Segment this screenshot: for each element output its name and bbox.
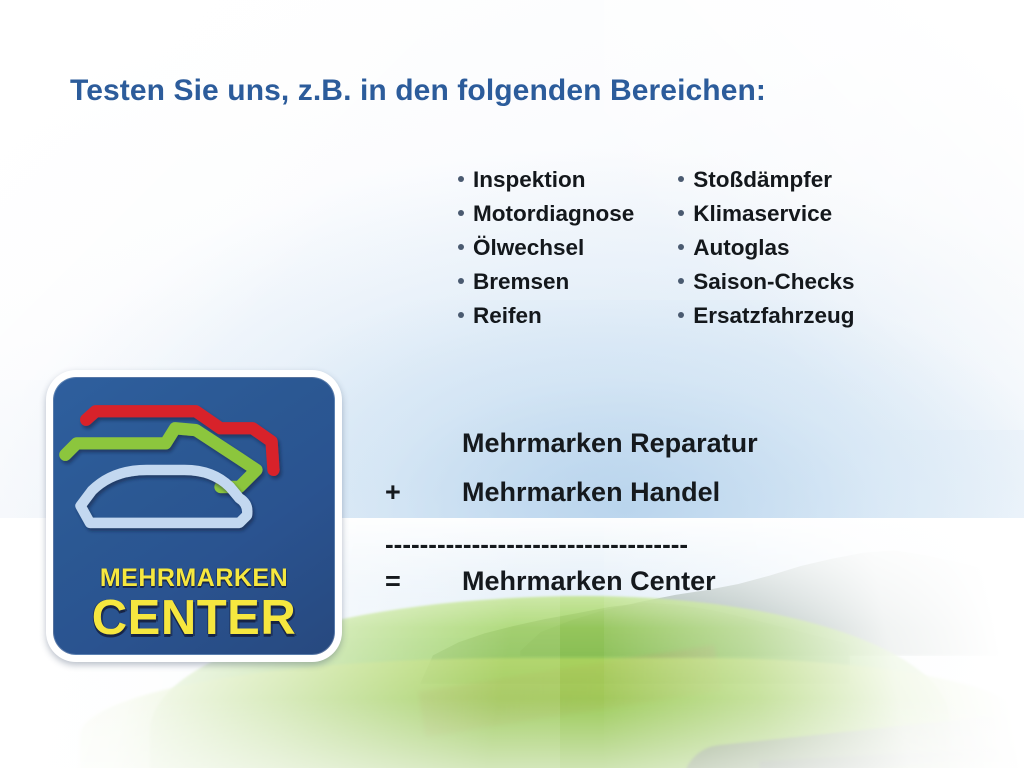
equation-row-result: = Mehrmarken Center	[385, 566, 905, 615]
equation-operator-equals: =	[385, 566, 462, 597]
equation-row-reparatur: Mehrmarken Reparatur	[385, 428, 905, 477]
list-item: Ölwechsel	[458, 231, 634, 265]
services-column-left: Inspektion Motordiagnose Ölwechsel Brems…	[458, 163, 634, 333]
landscape-haze-bottom	[0, 698, 1024, 768]
mehrmarken-center-logo: MEHRMARKEN CENTER	[46, 370, 342, 662]
landscape-meadow	[80, 658, 1024, 768]
three-cars-icon	[54, 384, 334, 552]
bullet-dot-icon	[458, 210, 464, 216]
list-item: Klimaservice	[678, 197, 854, 231]
list-item-label: Ersatzfahrzeug	[693, 299, 854, 333]
list-item: Autoglas	[678, 231, 854, 265]
list-item: Inspektion	[458, 163, 634, 197]
slide-canvas: Testen Sie uns, z.B. in den folgenden Be…	[0, 0, 1024, 768]
equation-term-label: Mehrmarken Reparatur	[462, 428, 758, 459]
list-item-label: Saison-Checks	[693, 265, 854, 299]
bullet-dot-icon	[678, 210, 684, 216]
logo-wordmark-top: MEHRMARKEN	[54, 564, 334, 593]
list-item-label: Reifen	[473, 299, 542, 333]
landscape-road	[679, 715, 1011, 768]
list-item: Stoßdämpfer	[678, 163, 854, 197]
logo-panel: MEHRMARKEN CENTER	[53, 377, 335, 655]
bullet-dot-icon	[458, 278, 464, 284]
list-item: Ersatzfahrzeug	[678, 299, 854, 333]
list-item-label: Motordiagnose	[473, 197, 634, 231]
logo-wordmark-bottom: CENTER	[54, 590, 334, 646]
bullet-dot-icon	[678, 312, 684, 318]
services-column-right: Stoßdämpfer Klimaservice Autoglas Saison…	[678, 163, 854, 333]
list-item: Reifen	[458, 299, 634, 333]
page-title: Testen Sie uns, z.B. in den folgenden Be…	[70, 74, 766, 108]
list-item-label: Ölwechsel	[473, 231, 584, 265]
equation-result-label: Mehrmarken Center	[462, 566, 716, 597]
equation-row-handel: + Mehrmarken Handel	[385, 477, 905, 526]
bullet-dot-icon	[678, 244, 684, 250]
equation-divider-line: -----------------------------------	[385, 530, 905, 556]
equation-term-label: Mehrmarken Handel	[462, 477, 720, 508]
landscape-road-shoulder	[760, 747, 1024, 768]
list-item-label: Bremsen	[473, 265, 569, 299]
list-item: Motordiagnose	[458, 197, 634, 231]
services-lists: Inspektion Motordiagnose Ölwechsel Brems…	[458, 163, 855, 333]
list-item-label: Stoßdämpfer	[693, 163, 832, 197]
bullet-dot-icon	[458, 244, 464, 250]
list-item-label: Autoglas	[693, 231, 789, 265]
bullet-dot-icon	[458, 176, 464, 182]
list-item: Saison-Checks	[678, 265, 854, 299]
background-fade-top-left	[0, 0, 420, 380]
equation-operator-plus: +	[385, 477, 462, 508]
list-item-label: Inspektion	[473, 163, 586, 197]
equation-block: Mehrmarken Reparatur + Mehrmarken Handel…	[385, 428, 905, 615]
bullet-dot-icon	[458, 312, 464, 318]
list-item-label: Klimaservice	[693, 197, 832, 231]
bullet-dot-icon	[678, 278, 684, 284]
list-item: Bremsen	[458, 265, 634, 299]
landscape-dirt-patch	[418, 645, 722, 737]
bullet-dot-icon	[678, 176, 684, 182]
